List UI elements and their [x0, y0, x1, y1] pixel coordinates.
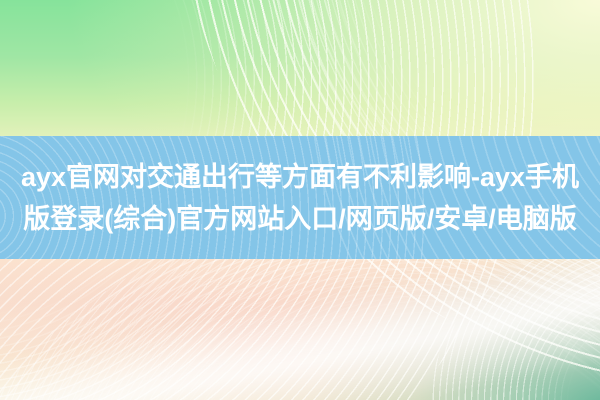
headline-band: ayx官网对交通出行等方面有不利影响-ayx手机 版登录(综合)官方网站入口/网…: [0, 136, 600, 259]
headline-line-2: 版登录(综合)官方网站入口/网页版/安卓/电脑版: [17, 198, 583, 240]
headline-line-1: ayx官网对交通出行等方面有不利影响-ayx手机: [15, 156, 585, 198]
decorative-arc-lines-right: [430, 236, 600, 400]
promo-banner: ayx官网对交通出行等方面有不利影响-ayx手机 版登录(综合)官方网站入口/网…: [0, 0, 600, 400]
